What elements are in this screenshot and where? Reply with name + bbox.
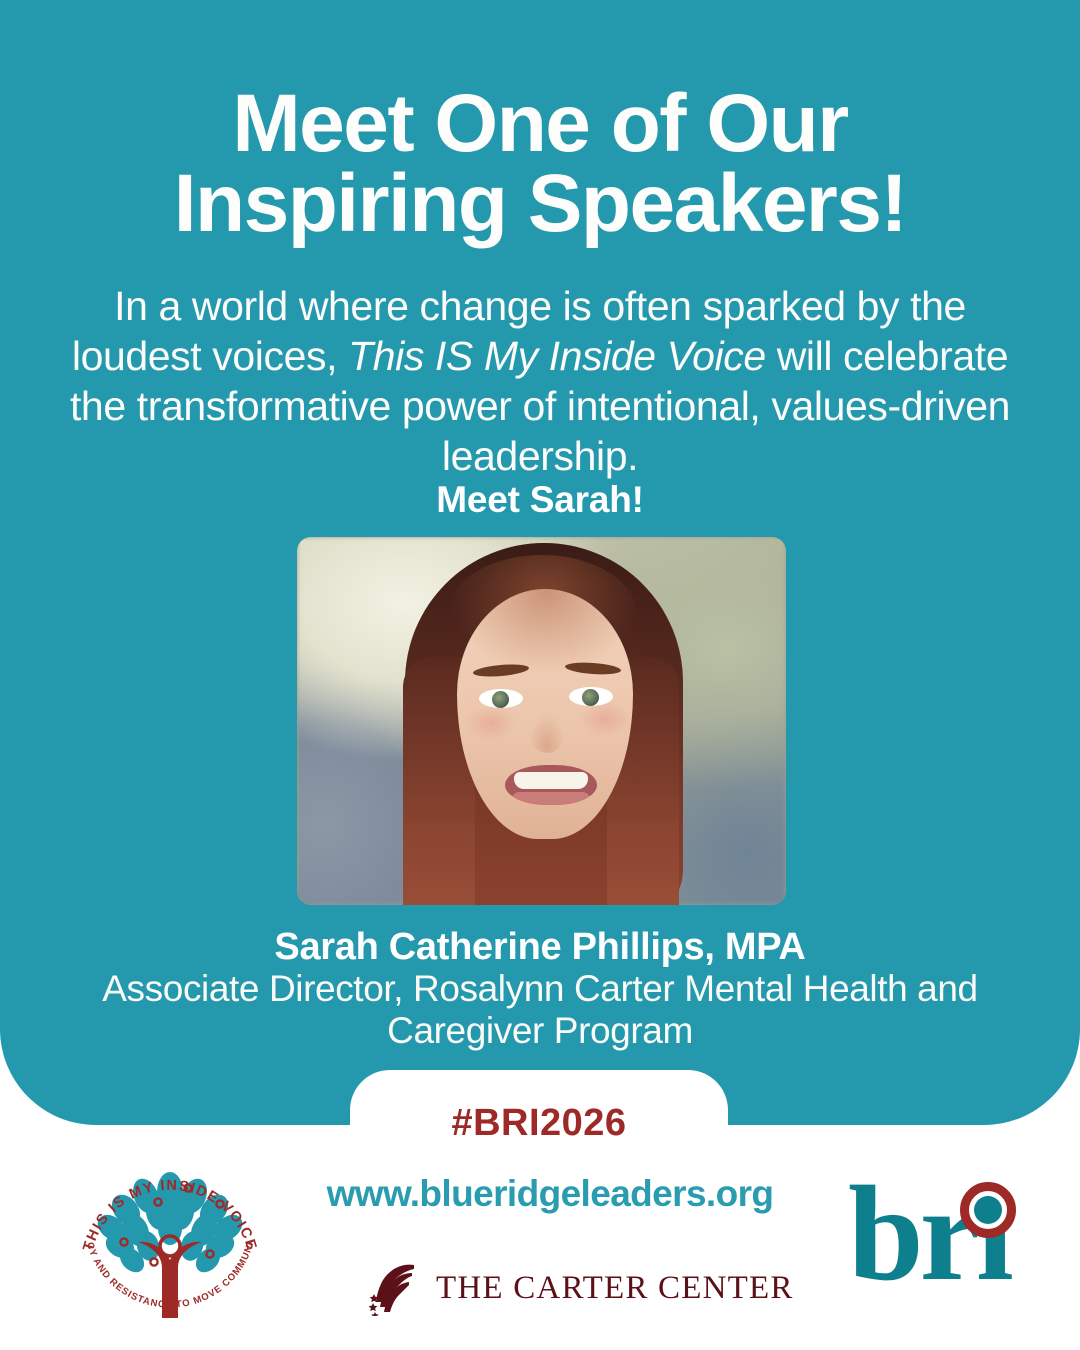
carter-center-logo: THE CARTER CENTER xyxy=(368,1258,718,1318)
inside-voice-logo: THIS IS MY INSIDE VOICE USING ADVOCACY A… xyxy=(70,1148,270,1328)
website-url[interactable]: www.blueridgeleaders.org xyxy=(285,1173,815,1215)
intro-emphasis-event-name: This IS My Inside Voice xyxy=(348,333,766,379)
photo-eye-left xyxy=(479,689,523,708)
meet-sarah-callout: Meet Sarah! xyxy=(0,479,1080,521)
speaker-name: Sarah Catherine Phillips, MPA xyxy=(0,926,1080,969)
photo-eye-right xyxy=(569,687,613,706)
bri-logo: bri xyxy=(848,1178,1044,1310)
photo-lower-lip xyxy=(511,792,591,805)
speaker-photo xyxy=(297,537,786,905)
photo-nose xyxy=(529,713,565,753)
speaker-title: Associate Director, Rosalynn Carter Ment… xyxy=(60,968,1020,1052)
poster-canvas: Meet One of Our Inspiring Speakers! In a… xyxy=(0,0,1080,1350)
photo-cheek-left xyxy=(465,705,517,741)
event-hashtag: #BRI2026 xyxy=(350,1102,728,1145)
photo-iris-right xyxy=(582,689,599,706)
page-title: Meet One of Our Inspiring Speakers! xyxy=(0,84,1080,245)
carter-center-name: THE CARTER CENTER xyxy=(436,1270,794,1307)
carter-stars xyxy=(369,1294,379,1316)
photo-iris-left xyxy=(492,691,509,708)
photo-mouth xyxy=(505,765,597,805)
headline-line-2: Inspiring Speakers! xyxy=(0,164,1080,244)
carter-eagle-icon xyxy=(368,1260,420,1316)
intro-paragraph: In a world where change is often sparked… xyxy=(62,281,1018,481)
bri-dot-icon xyxy=(974,1196,1002,1224)
photo-cheek-right xyxy=(579,701,631,737)
photo-teeth xyxy=(514,772,588,789)
headline-line-1: Meet One of Our xyxy=(0,84,1080,164)
photo-hair-sheen xyxy=(447,555,637,675)
